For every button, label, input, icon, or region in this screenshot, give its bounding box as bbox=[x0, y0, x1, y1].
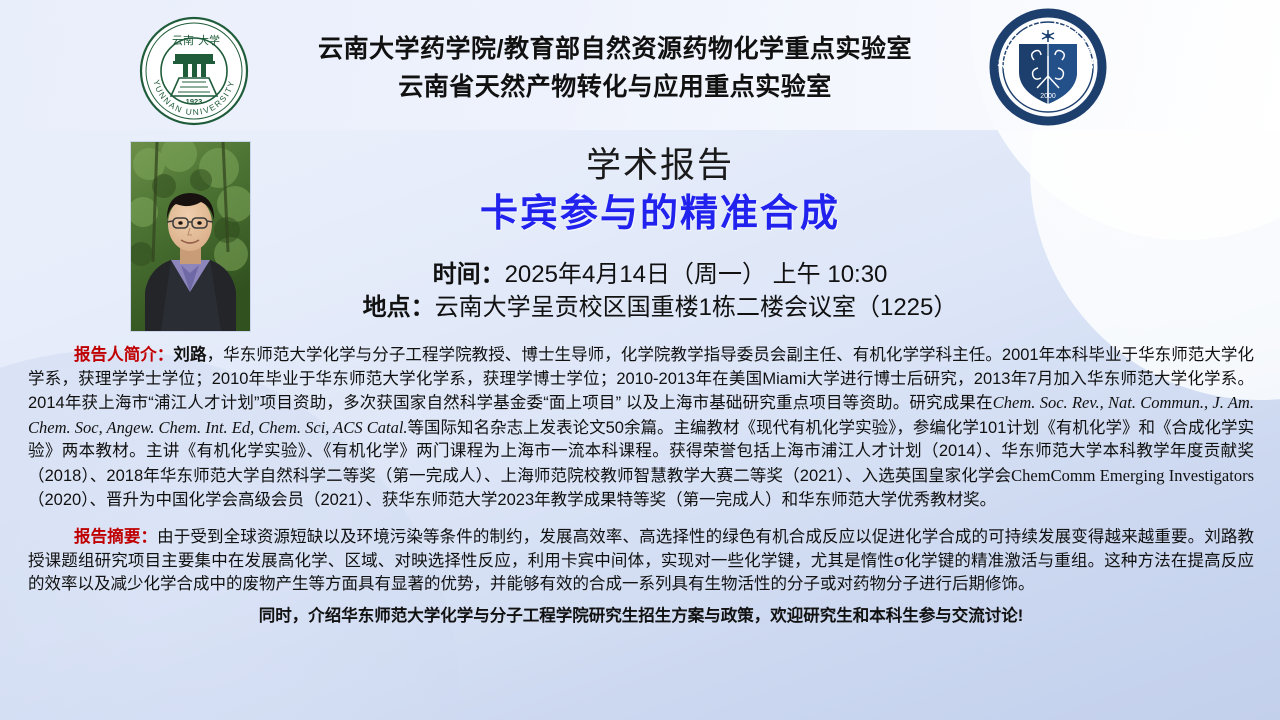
talk-meta: 时间：2025年4月14日（周一） 上午 10:30 地点：云南大学呈贡校区国重… bbox=[300, 258, 1020, 324]
poster-header: 云南 大学 1923 YUNNAN UNIVERSITY 云南大学药学院/教育部… bbox=[0, 0, 1280, 128]
school-of-pharmacy-seal-icon: SCHOOL OF PHARMACY YUNNAN UNIVERSITY bbox=[989, 8, 1107, 126]
talk-title-block: 学术报告 卡宾参与的精准合成 bbox=[300, 143, 1020, 240]
meta-row-time: 时间：2025年4月14日（周一） 上午 10:30 bbox=[300, 258, 1020, 291]
seal-year-right: 2000 bbox=[1040, 93, 1056, 100]
svg-text:云南: 云南 bbox=[172, 34, 194, 47]
abstract-text: 由于受到全球资源短缺以及环境污染等条件的制约，发展高效率、高选择性的绿色有机合成… bbox=[28, 528, 1254, 593]
organization-title: 云南大学药学院/教育部自然资源药物化学重点实验室 云南省天然产物转化与应用重点实… bbox=[265, 30, 965, 106]
bio-lead-label: 报告人简介： bbox=[74, 346, 173, 364]
talk-kicker: 学术报告 bbox=[300, 143, 1020, 188]
place-value: 云南大学呈贡校区国重楼1栋二楼会议室（1225） bbox=[435, 294, 958, 321]
closing-line: 同时，介绍华东师范大学化学与分子工程学院研究生招生方案与政策，欢迎研究生和本科生… bbox=[28, 605, 1254, 629]
place-label: 地点： bbox=[363, 294, 435, 321]
society-program-name: ChemComm Emerging Investigators bbox=[1011, 466, 1254, 485]
abstract-lead-label: 报告摘要： bbox=[74, 528, 157, 546]
abstract-paragraph: 报告摘要：由于受到全球资源短缺以及环境污染等条件的制约，发展高效率、高选择性的绿… bbox=[28, 526, 1254, 597]
yunnan-university-seal-icon: 云南 大学 1923 YUNNAN UNIVERSITY bbox=[139, 16, 249, 126]
meta-row-place: 地点：云南大学呈贡校区国重楼1栋二楼会议室（1225） bbox=[300, 291, 1020, 324]
org-line-2: 云南省天然产物转化与应用重点实验室 bbox=[265, 68, 965, 106]
talk-title: 卡宾参与的精准合成 bbox=[300, 188, 1020, 240]
speaker-bio-paragraph: 报告人简介：刘路，华东师范大学化学与分子工程学院教授、博士生导师，化学院教学指导… bbox=[28, 344, 1254, 512]
speaker-name: 刘路 bbox=[173, 346, 206, 364]
time-label: 时间： bbox=[433, 261, 505, 288]
org-line-1: 云南大学药学院/教育部自然资源药物化学重点实验室 bbox=[265, 30, 965, 68]
speaker-photo bbox=[131, 142, 250, 331]
bio-text-3: （2020）、晋升为中国化学会高级会员（2021）、获华东师范大学2023年教学… bbox=[28, 491, 996, 509]
svg-text:大学: 大学 bbox=[198, 33, 220, 47]
poster-body: 报告人简介：刘路，华东师范大学化学与分子工程学院教授、博士生导师，化学院教学指导… bbox=[28, 344, 1254, 635]
seal-year-left: 1923 bbox=[186, 97, 203, 106]
seminar-poster: 云南 大学 1923 YUNNAN UNIVERSITY 云南大学药学院/教育部… bbox=[0, 0, 1280, 720]
time-value: 2025年4月14日（周一） 上午 10:30 bbox=[505, 261, 888, 288]
